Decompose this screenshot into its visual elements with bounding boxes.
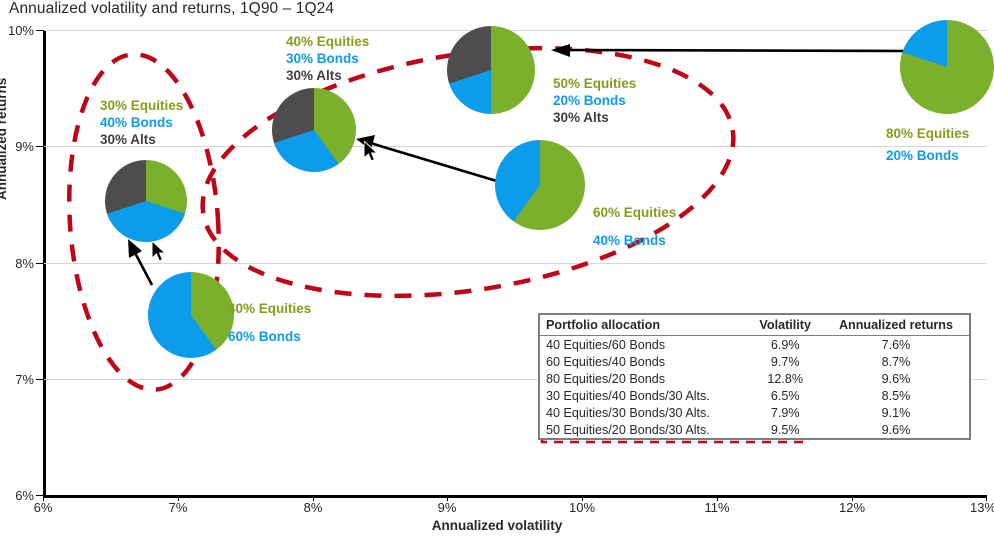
x-tick-label-9: 9% — [417, 500, 477, 515]
label-60-40: 60% Equities 40% Bonds — [593, 199, 676, 255]
label-30-40-30-bonds: 40% Bonds — [100, 114, 183, 131]
cell-allocation: 50 Equities/20 Bonds/30 Alts. — [540, 421, 747, 438]
table-header-allocation: Portfolio allocation — [540, 315, 747, 336]
x-tick-label-12: 12% — [822, 500, 882, 515]
cell-volatility: 7.9% — [747, 404, 820, 421]
label-80-20-bonds: 20% Bonds — [886, 145, 969, 167]
cell-returns: 9.6% — [821, 370, 969, 387]
table-row: 60 Equities/40 Bonds9.7%8.7% — [540, 353, 969, 370]
label-40-30-30: 40% Equities 30% Bonds 30% Alts — [286, 33, 369, 84]
pie-50-equities-20-bonds-30-alts[interactable] — [447, 26, 535, 114]
label-60-40-bonds: 40% Bonds — [593, 227, 676, 255]
cell-volatility: 6.5% — [747, 387, 820, 404]
table-header-volatility: Volatility — [747, 315, 820, 336]
x-axis-title: Annualized volatility — [0, 518, 994, 533]
y-tick-label-8: 8% — [0, 256, 34, 271]
table-row: 80 Equities/20 Bonds12.8%9.6% — [540, 370, 969, 387]
y-tick-8 — [36, 263, 44, 264]
mouse-cursor-primary — [152, 241, 168, 265]
x-tick-label-6: 6% — [13, 500, 73, 515]
cell-returns: 8.7% — [821, 353, 969, 370]
label-30-40-30-equities: 30% Equities — [100, 97, 183, 114]
cell-returns: 9.1% — [821, 404, 969, 421]
label-80-20-equities: 80% Equities — [886, 123, 969, 145]
label-30-40-30: 30% Equities 40% Bonds 30% Alts — [100, 97, 183, 148]
x-tick-label-11: 11% — [687, 500, 747, 515]
label-40-30-30-equities: 40% Equities — [286, 33, 369, 50]
label-40-30-30-bonds: 30% Bonds — [286, 50, 369, 67]
table-row: 40 Equities/60 Bonds6.9%7.6% — [540, 336, 969, 354]
cell-allocation: 30 Equities/40 Bonds/30 Alts. — [540, 387, 747, 404]
pie-80-equities-20-bonds[interactable] — [900, 20, 994, 114]
table-row: 40 Equities/30 Bonds/30 Alts.7.9%9.1% — [540, 404, 969, 421]
label-50-20-30-bonds: 20% Bonds — [553, 92, 636, 109]
x-tick-label-10: 10% — [552, 500, 612, 515]
cell-volatility: 9.5% — [747, 421, 820, 438]
cell-volatility: 9.7% — [747, 353, 820, 370]
cell-volatility: 6.9% — [747, 336, 820, 354]
table-row: 30 Equities/40 Bonds/30 Alts.6.5%8.5% — [540, 387, 969, 404]
x-tick-label-7: 7% — [148, 500, 208, 515]
y-axis-title: Annualized returns — [0, 78, 9, 200]
chart-root: Annualized volatility and returns, 1Q90 … — [0, 0, 994, 537]
cell-allocation: 40 Equities/30 Bonds/30 Alts. — [540, 404, 747, 421]
x-tick-label-8: 8% — [283, 500, 343, 515]
label-50-20-30: 50% Equities 20% Bonds 30% Alts — [553, 75, 636, 126]
label-30-40-30-alts: 30% Alts — [100, 131, 183, 148]
label-60-40-equities: 60% Equities — [593, 199, 676, 227]
y-tick-9 — [36, 146, 44, 147]
gridline-10 — [43, 30, 987, 31]
table-row: 50 Equities/20 Bonds/30 Alts.9.5%9.6% — [540, 421, 969, 438]
mouse-cursor-secondary — [364, 141, 380, 165]
pie-40-equities-30-bonds-30-alts[interactable] — [272, 88, 356, 172]
label-50-20-30-equities: 50% Equities — [553, 75, 636, 92]
cell-returns: 9.6% — [821, 421, 969, 438]
cell-allocation: 40 Equities/60 Bonds — [540, 336, 747, 354]
portfolio-allocation-table: Portfolio allocation Volatility Annualiz… — [538, 313, 971, 440]
cell-returns: 8.5% — [821, 387, 969, 404]
label-50-20-30-alts: 30% Alts — [553, 109, 636, 126]
x-tick-label-13: 13% — [953, 500, 994, 515]
label-40-60: 40% Equities 60% Bonds — [228, 295, 311, 351]
pie-40-equities-60-bonds[interactable] — [148, 272, 234, 358]
pie-30-equities-40-bonds-30-alts[interactable] — [105, 160, 187, 242]
y-tick-7 — [36, 379, 44, 380]
cell-allocation: 60 Equities/40 Bonds — [540, 353, 747, 370]
label-40-60-bonds: 60% Bonds — [228, 323, 311, 351]
y-tick-label-7: 7% — [0, 372, 34, 387]
page-title: Annualized volatility and returns, 1Q90 … — [9, 0, 334, 18]
table-header-row: Portfolio allocation Volatility Annualiz… — [540, 315, 969, 336]
y-tick-label-10: 10% — [0, 23, 34, 38]
cell-returns: 7.6% — [821, 336, 969, 354]
table-header-returns: Annualized returns — [821, 315, 969, 336]
label-40-30-30-alts: 30% Alts — [286, 67, 369, 84]
gridline-8 — [43, 263, 987, 264]
label-80-20: 80% Equities 20% Bonds — [886, 123, 969, 167]
cell-allocation: 80 Equities/20 Bonds — [540, 370, 747, 387]
cell-volatility: 12.8% — [747, 370, 820, 387]
y-tick-10 — [36, 30, 44, 31]
label-40-60-equities: 40% Equities — [228, 295, 311, 323]
pie-60-equities-40-bonds[interactable] — [495, 140, 585, 230]
